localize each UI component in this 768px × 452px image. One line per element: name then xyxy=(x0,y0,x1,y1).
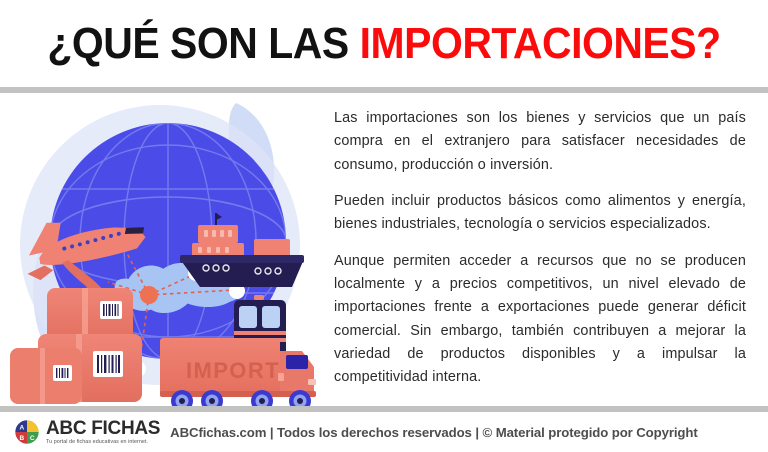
title-black-part: ¿QUÉ SON LAS xyxy=(47,19,348,68)
brand-text-block: ABC FICHAS Tu portal de fichas educativa… xyxy=(46,419,160,445)
paragraph-3: Aunque permiten acceder a recursos que n… xyxy=(334,250,746,390)
import-illustration: IMPORT xyxy=(0,93,320,406)
abc-circle-icon: A B C xyxy=(14,419,40,445)
svg-text:B: B xyxy=(19,435,24,442)
brand-name: ABC FICHAS xyxy=(46,419,160,438)
content-area: IMPORT Las importaciones son los xyxy=(0,93,768,406)
copyright-note: ABCfichas.com | Todos los derechos reser… xyxy=(170,425,697,440)
page-title: ¿QUÉ SON LAS IMPORTACIONES? xyxy=(47,22,720,66)
infographic-page: ¿QUÉ SON LAS IMPORTACIONES? xyxy=(0,0,768,452)
description-text: Las importaciones son los bienes y servi… xyxy=(320,93,768,406)
footer-bar: A B C ABC FICHAS Tu portal de fichas edu… xyxy=(0,412,768,452)
brand-tagline: Tu portal de fichas educativas en intern… xyxy=(46,440,160,445)
svg-text:A: A xyxy=(19,424,24,431)
paragraph-2: Pueden incluir productos básicos como al… xyxy=(334,190,746,237)
cardboard-boxes xyxy=(10,288,142,404)
title-red-part: IMPORTACIONES? xyxy=(360,19,721,68)
truck-import-label: IMPORT xyxy=(186,358,280,383)
title-bar: ¿QUÉ SON LAS IMPORTACIONES? xyxy=(0,0,768,87)
brand-logo[interactable]: A B C ABC FICHAS Tu portal de fichas edu… xyxy=(14,419,160,445)
delivery-truck: IMPORT xyxy=(160,338,316,406)
svg-text:C: C xyxy=(30,435,35,442)
paragraph-1: Las importaciones son los bienes y servi… xyxy=(334,107,746,177)
illustration-panel: IMPORT xyxy=(0,93,320,406)
